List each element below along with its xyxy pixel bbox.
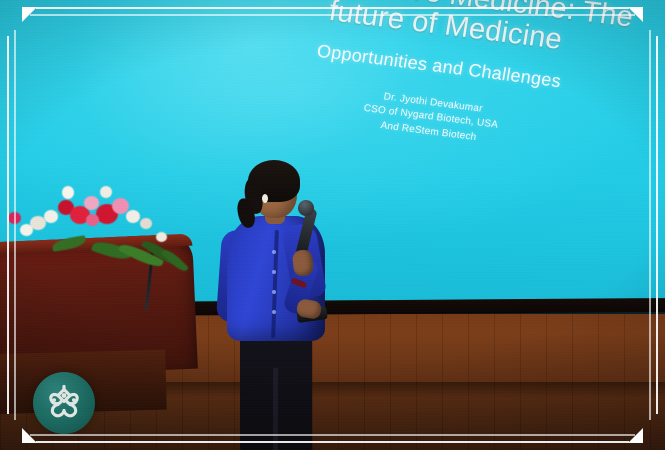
speaker-figure [205,158,370,450]
emblem-icon [40,379,88,427]
speaker-right-hand [292,249,315,277]
organization-logo [33,372,95,434]
presentation-photo: Regenerative Medicine: The future of Med… [0,0,665,450]
speaker-legs-gap [273,368,278,450]
speaker-earring [262,194,268,203]
